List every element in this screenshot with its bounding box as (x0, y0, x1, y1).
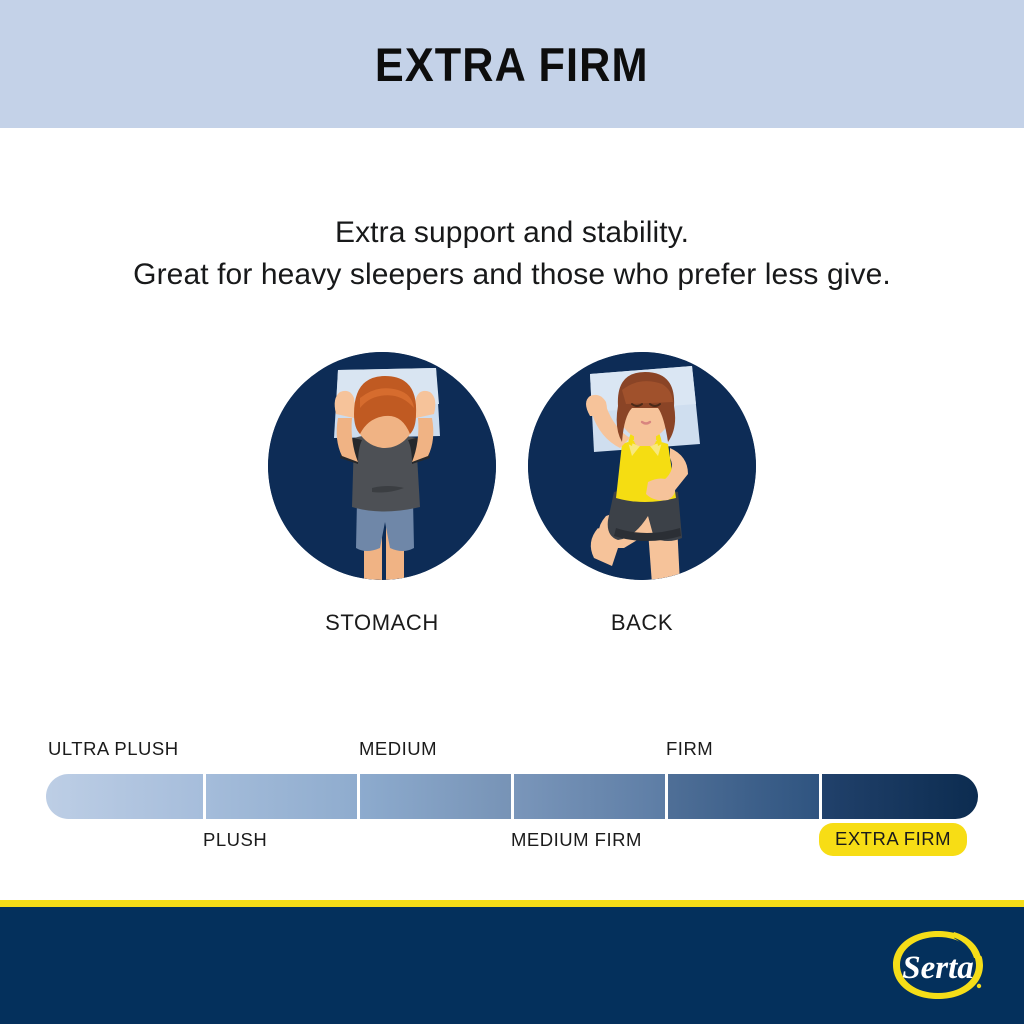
firmness-scale: ULTRA PLUSH MEDIUM FIRM PLUSH MEDIUM FIR… (46, 736, 978, 862)
footer-band (0, 907, 1024, 1024)
serta-logo[interactable]: Serta (884, 928, 992, 1002)
sleep-position-label-stomach: STOMACH (325, 610, 439, 636)
firmness-label-medium-firm: MEDIUM FIRM (511, 829, 642, 851)
firmness-bar (46, 774, 978, 819)
stomach-sleeper-circle (268, 352, 496, 580)
registered-trademark-icon (977, 984, 981, 988)
firmness-label-firm: FIRM (666, 738, 713, 760)
subtitle-block: Extra support and stability. Great for h… (0, 212, 1024, 296)
firmness-segment-ultra-plush[interactable] (46, 774, 203, 819)
sleep-position-stomach: STOMACH (268, 352, 496, 636)
firmness-label-ultra-plush: ULTRA PLUSH (48, 738, 179, 760)
firmness-label-extra-firm-selected[interactable]: EXTRA FIRM (819, 823, 967, 856)
subtitle-line-2: Great for heavy sleepers and those who p… (0, 254, 1024, 296)
sleep-position-back: BACK (528, 352, 756, 636)
serta-logo-text: Serta (902, 950, 974, 986)
back-sleeper-illustration (528, 352, 756, 580)
firmness-label-medium: MEDIUM (359, 738, 437, 760)
footer-accent-rule (0, 900, 1024, 907)
subtitle-line-1: Extra support and stability. (0, 212, 1024, 254)
sleep-positions-group: STOMACH (0, 352, 1024, 636)
page-title: EXTRA FIRM (375, 41, 649, 88)
firmness-segment-extra-firm[interactable] (822, 774, 978, 819)
firmness-segment-medium[interactable] (360, 774, 511, 819)
sleep-position-label-back: BACK (611, 610, 673, 636)
firmness-labels-top: ULTRA PLUSH MEDIUM FIRM (46, 736, 978, 764)
back-sleeper-circle (528, 352, 756, 580)
header-band: EXTRA FIRM (0, 0, 1024, 128)
serta-logo-mark: Serta (884, 928, 992, 1002)
stomach-sleeper-illustration (268, 352, 496, 580)
firmness-segment-firm[interactable] (668, 774, 819, 819)
firmness-segment-plush[interactable] (206, 774, 357, 819)
firmness-label-plush: PLUSH (203, 829, 267, 851)
firmness-labels-bottom: PLUSH MEDIUM FIRM EXTRA FIRM (46, 827, 978, 855)
firmness-segment-medium-firm[interactable] (514, 774, 665, 819)
